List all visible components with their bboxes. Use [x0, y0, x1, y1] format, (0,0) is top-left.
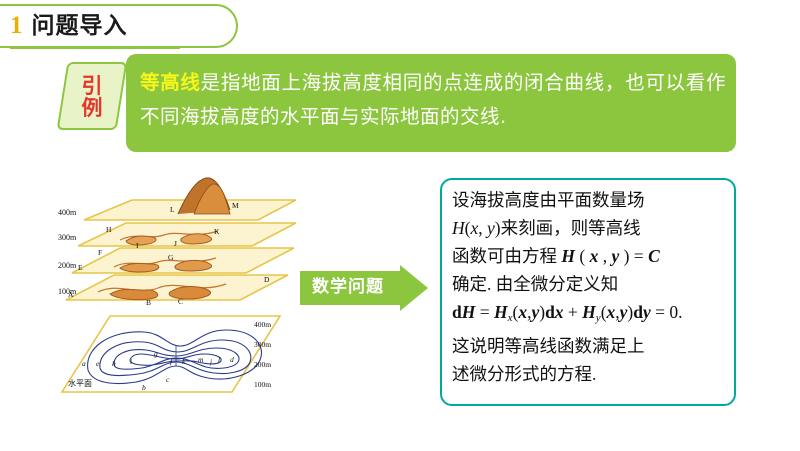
svg-text:m: m	[198, 355, 204, 364]
contour-map-illustration: A B C D E F G H I J K L M 400m 300m 200m…	[58, 170, 296, 395]
svg-text:l: l	[218, 355, 220, 364]
lead-badge-line1: 引	[82, 75, 103, 97]
lead-keyword: 等高线	[140, 71, 201, 94]
lead-body-part1: 是指地面上海拔高度相同的点连成的闭合曲线，	[201, 71, 625, 94]
svg-text:C: C	[178, 297, 183, 306]
math-line-4: 确定. 由全微分定义知	[452, 270, 728, 298]
map-label-200m: 200m	[254, 360, 271, 369]
plane-label-300m: 300m	[58, 233, 77, 242]
title-underline	[10, 46, 180, 49]
svg-text:a: a	[82, 359, 86, 368]
svg-text:D: D	[264, 275, 270, 284]
svg-text:j: j	[209, 357, 212, 366]
plane-label-400m: 400m	[58, 208, 77, 217]
svg-text:H: H	[106, 225, 112, 234]
page-title-number: 1	[10, 12, 23, 40]
svg-text:L: L	[170, 205, 175, 214]
svg-text:G: G	[168, 253, 174, 262]
math-line-5: dH = Hx(x,y)dx + Hy(x,y)dy = 0.	[452, 298, 728, 332]
math-problem-arrow-label: 数学问题	[312, 272, 384, 297]
svg-text:K: K	[214, 227, 220, 236]
svg-text:b: b	[142, 383, 146, 392]
math-line-1: 设海拔高度由平面数量场	[452, 186, 728, 214]
page-title-text: 问题导入	[32, 6, 128, 40]
math-statement-text: 设海拔高度由平面数量场 H(x, y)来刻画，则等高线 函数可由方程 H ( x…	[452, 186, 728, 388]
bottom-plane-label: 水平面	[68, 378, 92, 388]
lead-banner-text: 等高线是指地面上海拔高度相同的点连成的闭合曲线，也可以看作不同海拔高度的水平面与…	[140, 66, 726, 134]
plane-label-100m: 100m	[58, 287, 77, 296]
svg-text:F: F	[98, 248, 102, 257]
page-title: 1 问题导入	[10, 6, 128, 40]
math-line-2: H(x, y)来刻画，则等高线	[452, 214, 728, 242]
svg-text:d: d	[230, 355, 234, 364]
svg-text:B: B	[146, 298, 151, 307]
plane-label-200m: 200m	[58, 261, 77, 270]
svg-text:h: h	[112, 359, 116, 368]
svg-text:J: J	[174, 239, 177, 248]
math-line-3: 函数可由方程 H ( x , y ) = C	[452, 242, 728, 270]
lead-badge-line2: 例	[82, 97, 103, 119]
svg-text:E: E	[78, 263, 83, 272]
map-label-400m: 400m	[254, 320, 271, 329]
math-line-7: 述微分形式的方程.	[452, 360, 728, 388]
svg-text:M: M	[232, 201, 239, 210]
map-label-100m: 100m	[254, 380, 271, 389]
svg-text:i: i	[130, 357, 132, 366]
svg-text:g: g	[154, 349, 158, 358]
math-line-6: 这说明等高线函数满足上	[452, 332, 728, 360]
map-label-300m: 300m	[254, 340, 271, 349]
lead-example-badge-label: 引 例	[68, 66, 116, 128]
